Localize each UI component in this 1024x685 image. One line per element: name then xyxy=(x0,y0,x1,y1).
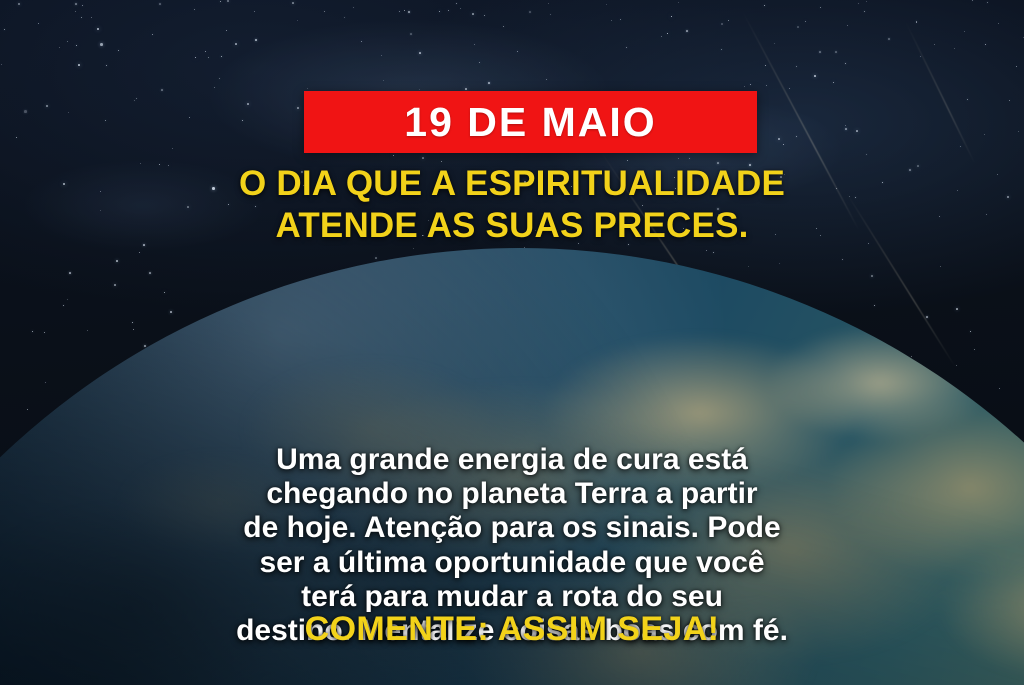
body-line-2: chegando no planeta Terra a partir xyxy=(38,477,986,511)
body-line-1: Uma grande energia de cura está xyxy=(38,443,986,477)
headline-line-1: O DIA QUE A ESPIRITUALIDADE xyxy=(40,163,984,205)
headline: O DIA QUE A ESPIRITUALIDADE ATENDE AS SU… xyxy=(0,163,1024,247)
poster-content: 19 DE MAIO O DIA QUE A ESPIRITUALIDADE A… xyxy=(0,0,1024,685)
call-to-action: COMENTE: ASSIM SEJA! xyxy=(0,612,1024,646)
date-banner-label: 19 DE MAIO xyxy=(404,102,656,143)
body-line-4: ser a última oportunidade que você xyxy=(38,546,986,580)
body-line-3: de hoje. Atenção para os sinais. Pode xyxy=(38,511,986,545)
headline-line-2: ATENDE AS SUAS PRECES. xyxy=(40,205,984,247)
body-line-5: terá para mudar a rota do seu xyxy=(38,580,986,614)
poster-canvas: 19 DE MAIO O DIA QUE A ESPIRITUALIDADE A… xyxy=(0,0,1024,685)
date-banner: 19 DE MAIO xyxy=(304,91,757,153)
cta-label: COMENTE: ASSIM SEJA! xyxy=(305,610,720,648)
